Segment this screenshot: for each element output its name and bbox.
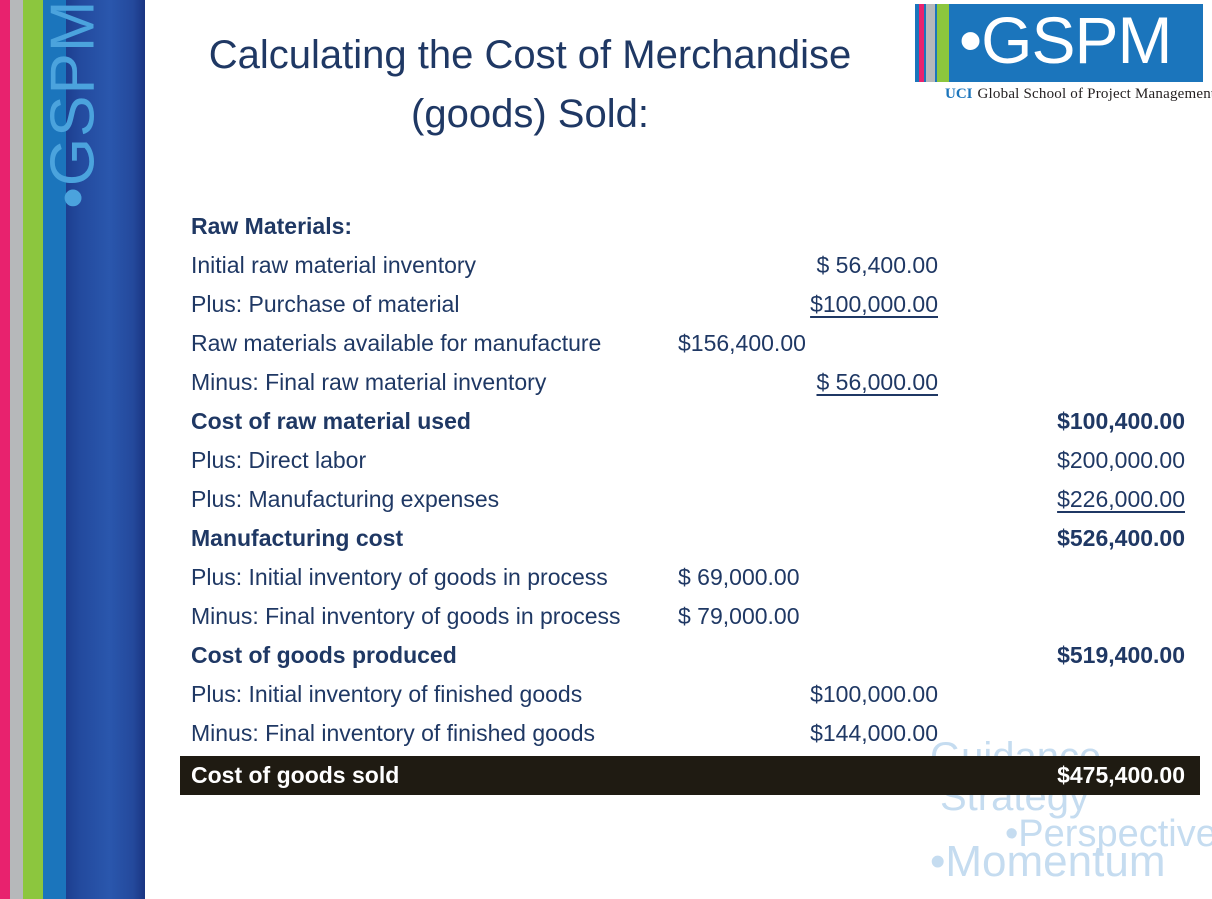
statement-row-label: Minus: Final raw material inventory bbox=[191, 369, 546, 396]
statement-row-label: Plus: Direct labor bbox=[191, 447, 366, 474]
statement-row-value: $ 56,000.00 bbox=[816, 369, 938, 396]
statement-row-label: Raw Materials: bbox=[191, 213, 352, 240]
statement-row-value: $ 56,400.00 bbox=[816, 252, 938, 279]
logo-subtitle-text: Global School of Project Management bbox=[978, 86, 1212, 103]
sidebar-stripe-band: •GSPM bbox=[0, 0, 145, 899]
cost-of-goods-sold-total-row: Cost of goods sold$475,400.00 bbox=[180, 756, 1200, 795]
statement-row-label: Raw materials available for manufacture bbox=[191, 330, 601, 357]
statement-row-label: Cost of goods produced bbox=[191, 642, 457, 669]
statement-row: Manufacturing cost$526,400.00 bbox=[180, 519, 1200, 558]
logo-gspm-text: •GSPM bbox=[959, 1, 1171, 79]
statement-row: Raw materials available for manufacture$… bbox=[180, 324, 1200, 363]
logo-subtitle: UCI Global School of Project Management bbox=[945, 86, 1212, 103]
statement-row-value: $100,000.00 bbox=[810, 681, 938, 708]
watermark-momentum: •Momentum bbox=[930, 837, 1165, 887]
statement-row-value: $ 79,000.00 bbox=[678, 603, 800, 630]
sidebar-stripe-pink bbox=[0, 0, 10, 899]
sidebar-gspm-wordmark: •GSPM bbox=[34, 0, 113, 340]
sidebar-stripe-gray bbox=[10, 0, 23, 899]
statement-row: Cost of raw material used$100,400.00 bbox=[180, 402, 1200, 441]
logo-stripe-gray bbox=[926, 4, 935, 82]
page-title-line-2: (goods) Sold: bbox=[180, 85, 880, 144]
logo-uci-text: UCI bbox=[945, 86, 973, 103]
page-title-line-1: Calculating the Cost of Merchandise bbox=[180, 26, 880, 85]
statement-row: Plus: Initial inventory of finished good… bbox=[180, 675, 1200, 714]
statement-row-value: $526,400.00 bbox=[1057, 525, 1185, 552]
statement-row-value: $100,400.00 bbox=[1057, 408, 1185, 435]
statement-row: Minus: Final inventory of goods in proce… bbox=[180, 597, 1200, 636]
total-row-value: $475,400.00 bbox=[1057, 762, 1185, 789]
statement-row: Plus: Direct labor$200,000.00 bbox=[180, 441, 1200, 480]
statement-row-label: Plus: Purchase of material bbox=[191, 291, 459, 318]
logo-stripe-green bbox=[937, 4, 949, 82]
statement-row-label: Plus: Initial inventory of goods in proc… bbox=[191, 564, 608, 591]
statement-row-value: $519,400.00 bbox=[1057, 642, 1185, 669]
statement-row-label: Minus: Final inventory of goods in proce… bbox=[191, 603, 621, 630]
page-title: Calculating the Cost of Merchandise (goo… bbox=[180, 26, 880, 144]
statement-row-value: $200,000.00 bbox=[1057, 447, 1185, 474]
statement-row-label: Plus: Initial inventory of finished good… bbox=[191, 681, 582, 708]
statement-row: Initial raw material inventory$ 56,400.0… bbox=[180, 246, 1200, 285]
statement-row: Cost of goods produced$519,400.00 bbox=[180, 636, 1200, 675]
statement-row-value: $156,400.00 bbox=[678, 330, 806, 357]
statement-row-label: Initial raw material inventory bbox=[191, 252, 476, 279]
statement-row: Plus: Manufacturing expenses$226,000.00 bbox=[180, 480, 1200, 519]
logo-badge: •GSPM bbox=[915, 4, 1203, 82]
total-row-label: Cost of goods sold bbox=[191, 762, 399, 789]
statement-row: Plus: Purchase of material$100,000.00 bbox=[180, 285, 1200, 324]
statement-row-value: $226,000.00 bbox=[1057, 486, 1185, 513]
logo-stripe-pink bbox=[919, 4, 924, 82]
statement-row-value: $100,000.00 bbox=[810, 291, 938, 318]
statement-row: Plus: Initial inventory of goods in proc… bbox=[180, 558, 1200, 597]
statement-row-value: $144,000.00 bbox=[810, 720, 938, 747]
statement-row-label: Manufacturing cost bbox=[191, 525, 403, 552]
statement-row: Raw Materials: bbox=[180, 207, 1200, 246]
statement-row: Minus: Final raw material inventory$ 56,… bbox=[180, 363, 1200, 402]
statement-row-label: Cost of raw material used bbox=[191, 408, 471, 435]
gspm-logo: •GSPM UCI Global School of Project Manag… bbox=[915, 4, 1203, 107]
statement-row-label: Plus: Manufacturing expenses bbox=[191, 486, 499, 513]
cost-of-goods-statement: Raw Materials:Initial raw material inven… bbox=[180, 207, 1200, 795]
statement-row-label: Minus: Final inventory of finished goods bbox=[191, 720, 595, 747]
statement-row-value: $ 69,000.00 bbox=[678, 564, 800, 591]
slide-canvas: •GSPM Calculating the Cost of Merchandis… bbox=[0, 0, 1212, 899]
statement-row: Minus: Final inventory of finished goods… bbox=[180, 714, 1200, 753]
